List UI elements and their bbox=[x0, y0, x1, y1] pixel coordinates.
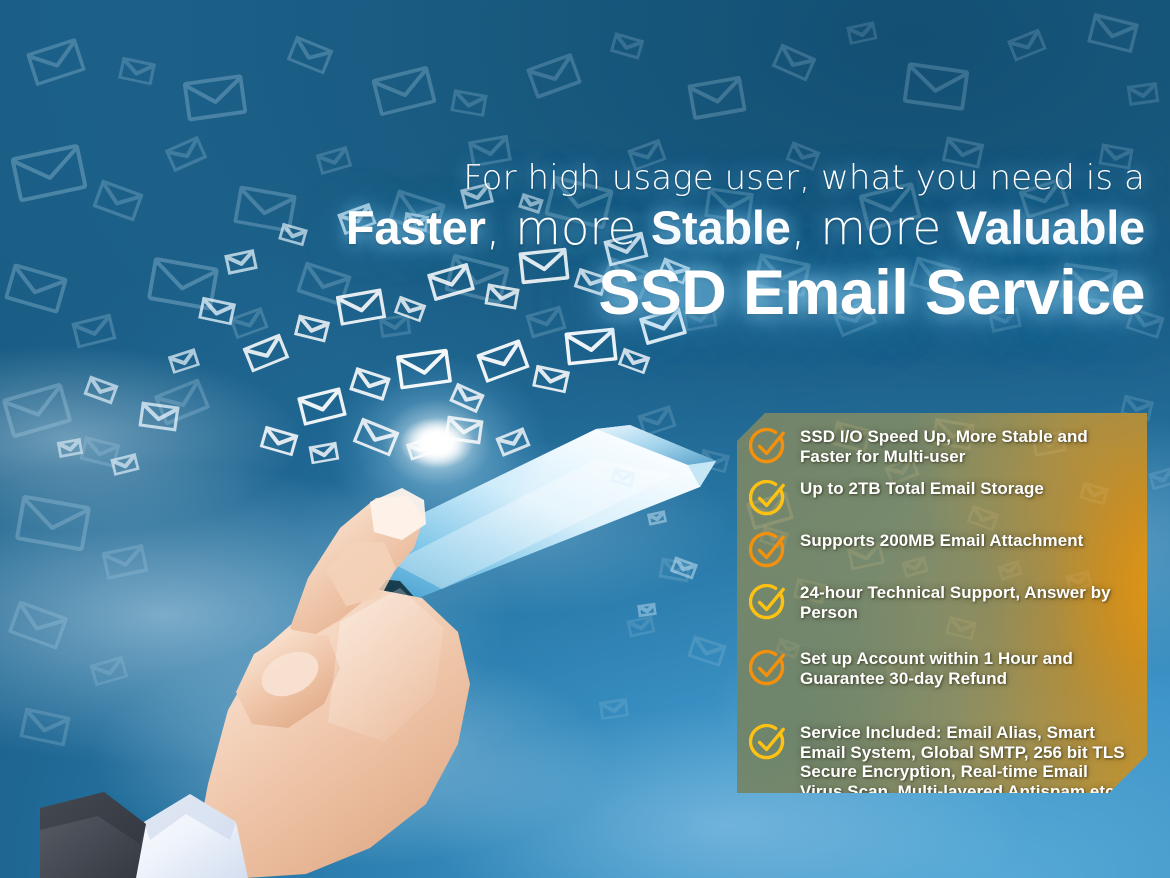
envelope-icon bbox=[84, 375, 119, 404]
envelope-icon bbox=[57, 438, 83, 458]
envelope-icon bbox=[336, 288, 387, 326]
check-circle-icon bbox=[749, 530, 789, 570]
feature-item: SSD I/O Speed Up, More Stable and Faster… bbox=[749, 426, 1129, 466]
envelope-icon bbox=[294, 314, 330, 342]
feature-item: 24-hour Technical Support, Answer by Per… bbox=[749, 582, 1129, 622]
feature-item-label: 24-hour Technical Support, Answer by Per… bbox=[800, 582, 1129, 622]
check-circle-icon bbox=[749, 648, 789, 688]
feature-item: Set up Account within 1 Hour and Guarant… bbox=[749, 648, 1129, 688]
envelope-icon bbox=[476, 339, 530, 383]
envelope-icon bbox=[406, 436, 436, 460]
envelope-icon bbox=[484, 283, 519, 309]
envelope-icon bbox=[518, 248, 569, 285]
feature-item-label: SSD I/O Speed Up, More Stable and Faster… bbox=[800, 426, 1129, 466]
envelope-icon bbox=[243, 333, 290, 372]
envelope-icon bbox=[658, 257, 691, 285]
envelope-icon bbox=[445, 416, 484, 445]
check-circle-icon bbox=[749, 582, 789, 622]
check-circle-icon bbox=[749, 478, 789, 518]
feature-item-label: Service Included: Email Alias, Smart Ema… bbox=[800, 722, 1129, 793]
envelope-icon bbox=[449, 383, 484, 413]
feature-item: Service Included: Email Alias, Smart Ema… bbox=[749, 722, 1129, 793]
envelope-icon bbox=[603, 232, 648, 267]
envelope-icon bbox=[611, 468, 636, 487]
envelope-icon bbox=[260, 426, 299, 457]
check-circle-icon bbox=[749, 426, 789, 466]
envelope-icon bbox=[518, 193, 543, 214]
feature-list: SSD I/O Speed Up, More Stable and Faster… bbox=[737, 413, 1147, 793]
feature-item-label: Supports 200MB Email Attachment bbox=[800, 530, 1129, 551]
feature-panel: SSD I/O Speed Up, More Stable and Faster… bbox=[737, 413, 1147, 793]
envelope-icon bbox=[618, 348, 651, 375]
feature-item: Up to 2TB Total Email Storage bbox=[749, 478, 1129, 518]
envelope-icon bbox=[637, 603, 656, 617]
envelope-icon bbox=[337, 203, 377, 236]
envelope-icon bbox=[278, 223, 308, 247]
envelope-icon bbox=[309, 442, 340, 465]
feature-item-label: Set up Account within 1 Hour and Guarant… bbox=[800, 648, 1129, 688]
feature-item-label: Up to 2TB Total Email Storage bbox=[800, 478, 1129, 499]
envelope-icon bbox=[349, 367, 391, 401]
envelope-icon bbox=[110, 453, 139, 476]
envelope-icon bbox=[396, 349, 452, 390]
envelope-icon bbox=[427, 263, 475, 301]
envelope-icon bbox=[224, 249, 257, 275]
envelope-icon bbox=[495, 427, 530, 457]
check-circle-icon bbox=[749, 722, 789, 762]
envelope-icon bbox=[670, 556, 698, 579]
envelope-icon bbox=[574, 268, 609, 296]
envelope-icon bbox=[297, 387, 347, 426]
envelope-icon bbox=[353, 417, 400, 456]
envelope-icon bbox=[403, 212, 429, 232]
envelope-icon bbox=[647, 510, 667, 525]
envelope-icon bbox=[168, 348, 200, 374]
envelope-icon bbox=[394, 296, 427, 323]
envelope-icon bbox=[198, 297, 236, 326]
envelope-icon bbox=[639, 307, 687, 345]
envelope-icon bbox=[138, 401, 179, 431]
envelope-icon bbox=[460, 183, 494, 209]
feature-item: Supports 200MB Email Attachment bbox=[749, 530, 1129, 570]
envelope-icon bbox=[564, 327, 617, 365]
ssd-email-service-banner: For high usage user, what you need is a … bbox=[0, 0, 1170, 878]
envelope-icon bbox=[532, 365, 570, 394]
